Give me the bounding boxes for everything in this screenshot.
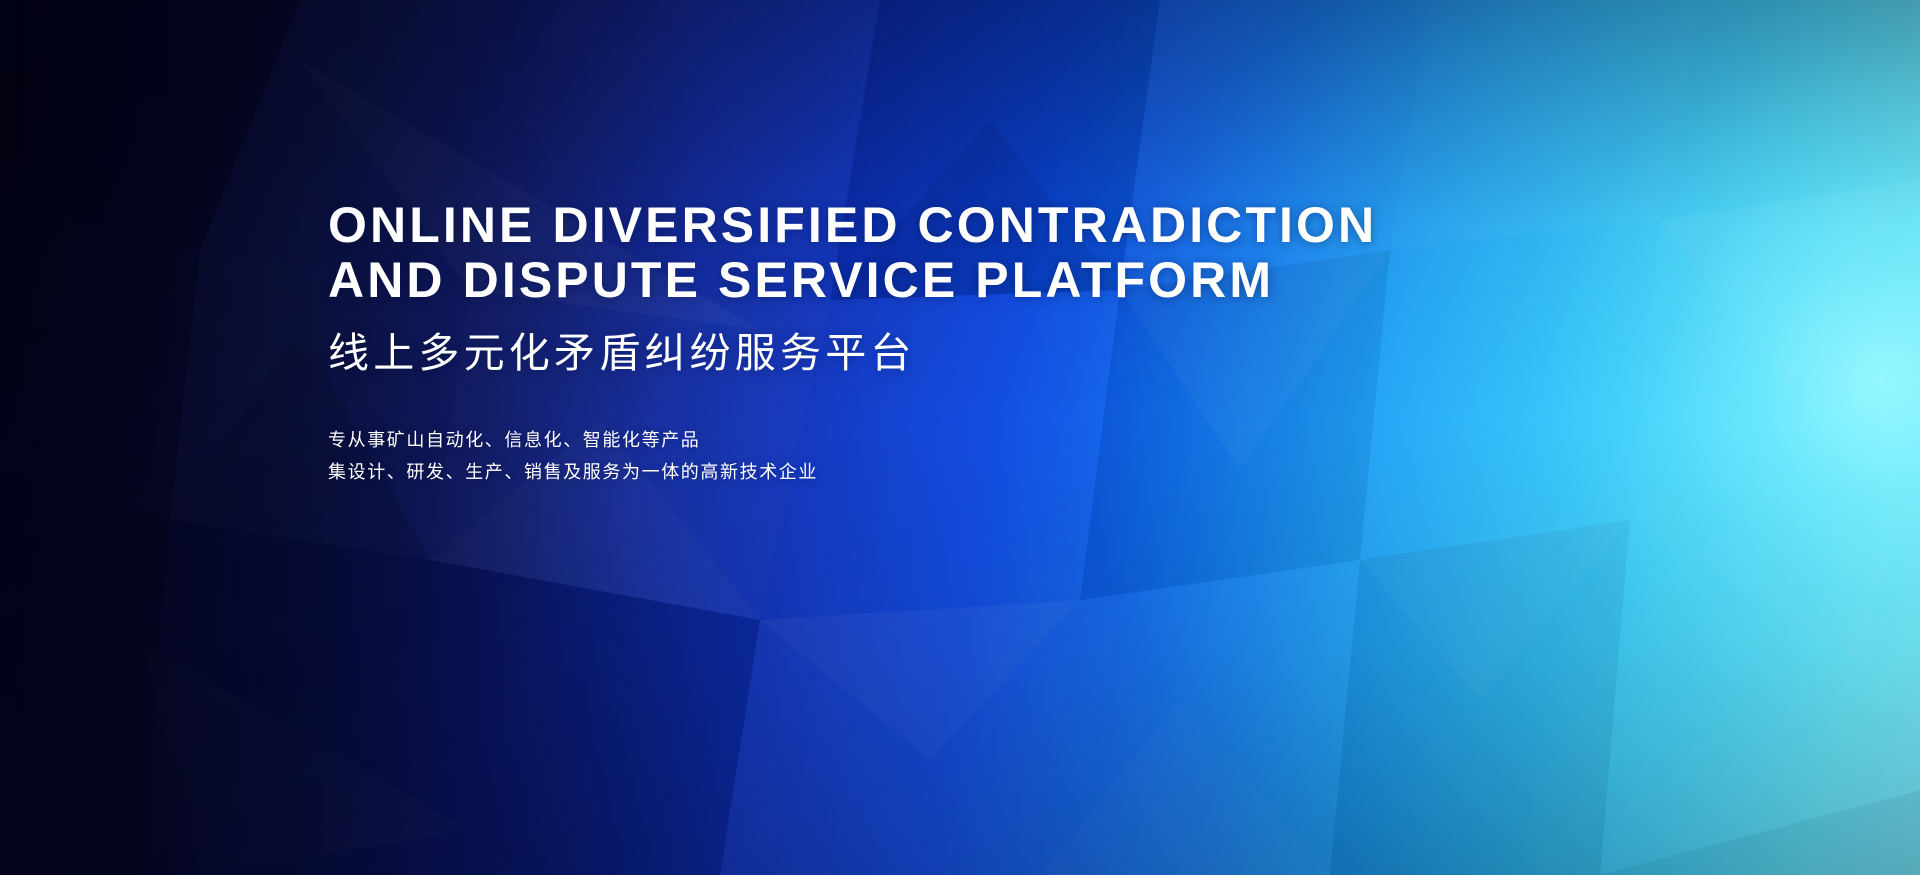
hero-banner: ONLINE DIVERSIFIED CONTRADICTION AND DIS… xyxy=(0,0,1920,875)
banner-subtitle: 专从事矿山自动化、信息化、智能化等产品 集设计、研发、生产、销售及服务为一体的高… xyxy=(328,424,1528,488)
banner-content: ONLINE DIVERSIFIED CONTRADICTION AND DIS… xyxy=(328,198,1528,488)
subtitle-line-2: 集设计、研发、生产、销售及服务为一体的高新技术企业 xyxy=(328,456,1528,488)
banner-title-english: ONLINE DIVERSIFIED CONTRADICTION AND DIS… xyxy=(328,198,1528,308)
banner-title-chinese: 线上多元化矛盾纠纷服务平台 xyxy=(328,329,1528,377)
subtitle-line-1: 专从事矿山自动化、信息化、智能化等产品 xyxy=(328,424,1528,456)
